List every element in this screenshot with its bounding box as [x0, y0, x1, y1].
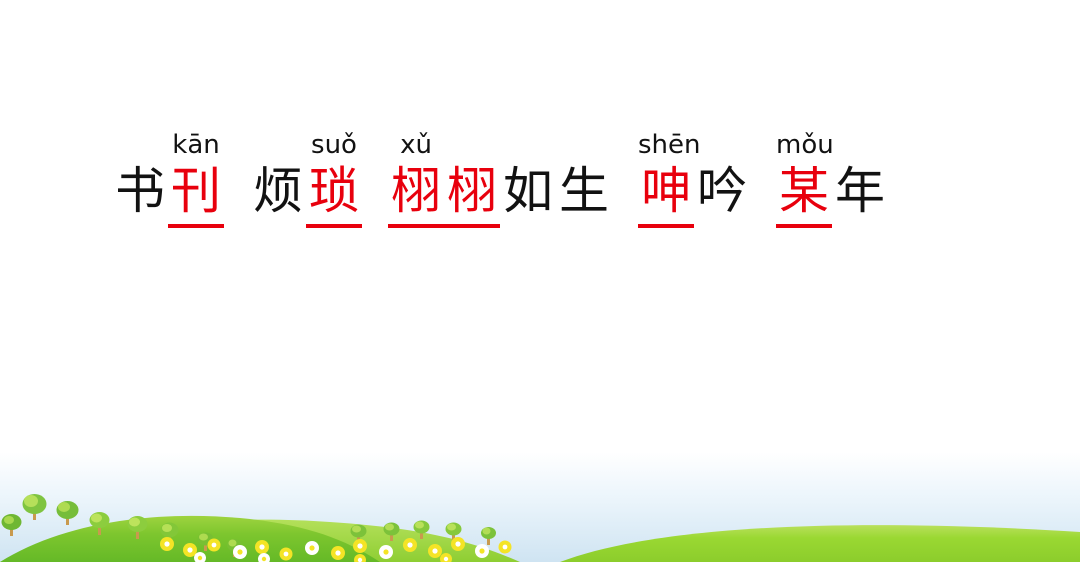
flower-icon — [280, 548, 293, 561]
han-sheng: 生 — [556, 160, 612, 222]
pinyin-line-mounian: mǒu — [776, 126, 888, 160]
slide-canvas: kān 书 刊 suǒ 烦 琐 xǔ — [0, 0, 1080, 562]
han-fan: 烦 — [250, 160, 306, 222]
flower-icon — [403, 538, 417, 552]
word-group-shenyin: shēn 呻 吟 — [638, 126, 750, 228]
word-group-mounian: mǒu 某 年 — [776, 126, 888, 228]
word-group-fansuo: suǒ 烦 琐 — [250, 126, 362, 228]
han-shen: 呻 — [638, 160, 694, 228]
pinyin-suo: suǒ — [306, 130, 362, 160]
han-line-xuxurusheng: 栩 栩 如 生 — [388, 160, 612, 228]
pinyin-xu: xǔ — [388, 130, 444, 160]
han-suo: 琐 — [306, 160, 362, 228]
han-line-shukan: 书 刊 — [112, 160, 224, 228]
flower-icon — [208, 539, 221, 552]
han-line-shenyin: 呻 吟 — [638, 160, 750, 228]
han-nian: 年 — [832, 160, 888, 222]
han-mou: 某 — [776, 160, 832, 228]
pinyin-line-shenyin: shēn — [638, 126, 750, 160]
flower-icon — [428, 544, 442, 558]
word-group-shukan: kān 书 刊 — [112, 126, 224, 228]
han-line-mounian: 某 年 — [776, 160, 888, 228]
pinyin-line-shukan: kān — [112, 126, 224, 160]
flower-icon — [331, 546, 345, 560]
han-line-fansuo: 烦 琐 — [250, 160, 362, 228]
flower-icon — [475, 544, 489, 558]
flower-icon — [499, 541, 512, 554]
han-ru: 如 — [500, 160, 556, 222]
flower-icon — [305, 541, 319, 555]
pinyin-shen: shēn — [638, 130, 694, 160]
flower-icon — [451, 537, 465, 551]
landscape-decoration — [0, 452, 1080, 562]
han-xu-2: 栩 — [444, 160, 500, 228]
pinyin-kan: kān — [168, 130, 224, 160]
han-kan: 刊 — [168, 160, 224, 228]
word-group-xuxurusheng: xǔ 栩 栩 如 生 — [388, 126, 612, 228]
flower-icon — [353, 539, 367, 553]
pinyin-line-xuxurusheng: xǔ — [388, 126, 612, 160]
vocabulary-row: kān 书 刊 suǒ 烦 琐 xǔ — [112, 126, 888, 228]
han-yin: 吟 — [694, 160, 750, 222]
pinyin-mou: mǒu — [776, 130, 832, 160]
flower-icon — [255, 540, 269, 554]
flower-icon — [160, 537, 174, 551]
han-xu: 栩 — [388, 160, 444, 228]
flower-icon — [379, 545, 393, 559]
pinyin-line-fansuo: suǒ — [250, 126, 362, 160]
flower-icon — [233, 545, 247, 559]
han-shu: 书 — [112, 160, 168, 222]
